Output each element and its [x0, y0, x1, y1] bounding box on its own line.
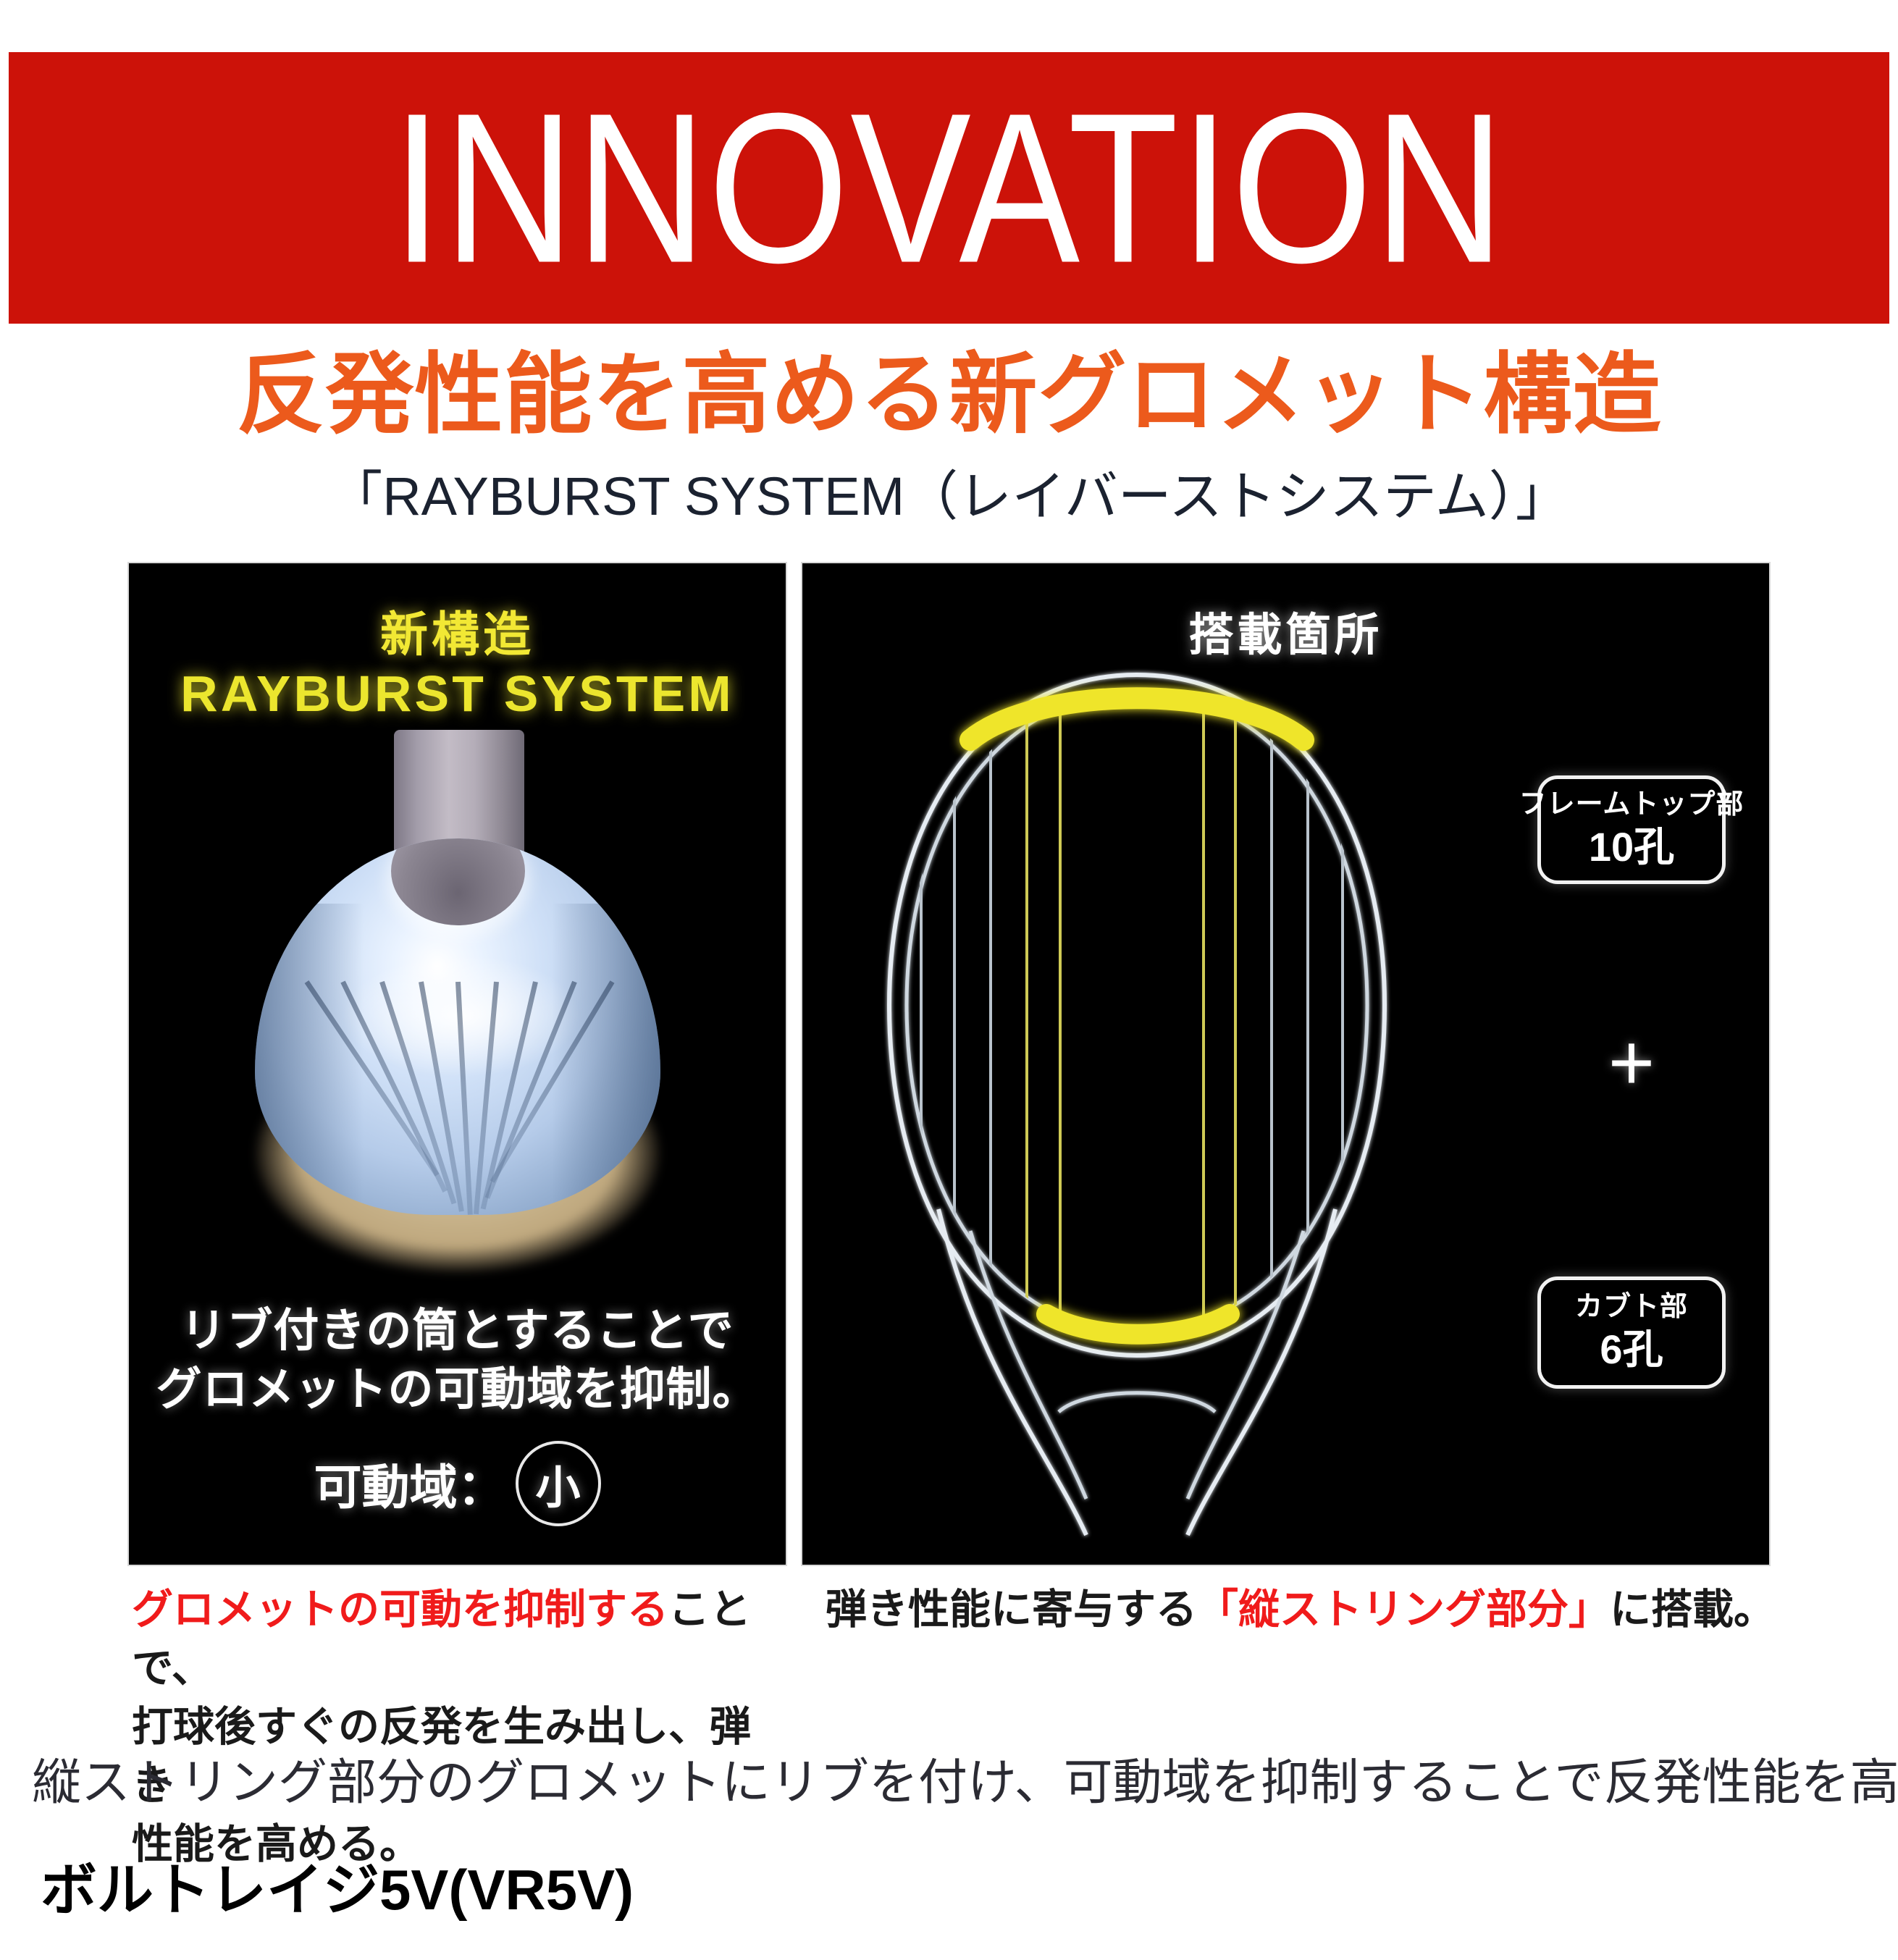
badge-kabuto-label: カブト部: [1575, 1292, 1688, 1324]
badge-frame-top-value: 10孔: [1589, 824, 1674, 870]
movement-range-row: 可動域： 小: [129, 1441, 786, 1526]
right-caption-suffix: に搭載。: [1610, 1586, 1775, 1633]
grommet-3d-illustration: [226, 730, 689, 1295]
badge-frame-top: フレームトップ部 10孔: [1537, 775, 1726, 884]
description-line-2: グロメットの可動域を抑制。: [129, 1360, 786, 1419]
badge-kabuto: カブト部 6孔: [1537, 1276, 1726, 1389]
left-panel-caption: グロメットの可動を抑制することで、 打球後すぐの反発を生み出し、弾き 性能を高め…: [132, 1581, 784, 1874]
page-title: 反発性能を高める新グロメット構造: [0, 346, 1898, 443]
racket-svg: [869, 659, 1405, 1549]
innovation-title: INNOVATION: [392, 81, 1506, 295]
kabuto-grommet-arc: [1046, 1314, 1230, 1334]
racket-vertical-strings: [921, 688, 1343, 1336]
right-caption-highlight: 「縦ストリング部分」: [1197, 1586, 1610, 1633]
racket-diagram: [869, 659, 1405, 1549]
dome-shade-left: [255, 904, 364, 1208]
movement-range-value-badge: 小: [516, 1441, 601, 1526]
page-subtitle: 「RAYBURST SYSTEM（レイバーストシステム）」: [0, 465, 1898, 529]
grommet-highlight-arcs: [970, 698, 1303, 1334]
left-caption-highlight: グロメットの可動を抑制する: [132, 1586, 668, 1633]
grommet-bore-hole: [391, 838, 525, 925]
movement-range-label: 可動域：: [314, 1449, 505, 1518]
rayburst-system-logo-text: RAYBURST SYSTEM: [129, 665, 786, 723]
product-name: ボルトレイジ5V(VR5V): [41, 1855, 634, 1926]
summary-text: 縦ストリング部分のグロメットにリブを付け、可動域を抑制することで反発性能を高めま…: [32, 1751, 1871, 1814]
innovation-header-bar: INNOVATION: [9, 52, 1889, 324]
new-structure-description: リブ付きの筒とすることで グロメットの可動域を抑制。: [129, 1302, 786, 1418]
racket-frame-outline: [889, 675, 1385, 1535]
badge-kabuto-value: 6孔: [1600, 1326, 1663, 1373]
grommet-ribbed-dome: [255, 838, 660, 1215]
mount-location-panel: 搭載箇所: [802, 563, 1769, 1565]
frame-top-grommet-arc: [970, 698, 1303, 740]
description-line-1: リブ付きの筒とすることで: [129, 1302, 786, 1360]
new-structure-heading: 新構造: [129, 596, 786, 665]
right-caption-prefix: 弾き性能に寄与する: [826, 1586, 1197, 1633]
right-panel-caption: 弾き性能に寄与する「縦ストリング部分」に搭載。: [826, 1581, 1825, 1639]
plus-icon: +: [1537, 1023, 1726, 1103]
new-structure-panel: 新構造 RAYBURST SYSTEM リブ付きの筒とすることで グロメットの可…: [129, 563, 786, 1565]
mount-location-heading: 搭載箇所: [802, 598, 1769, 663]
badge-frame-top-label: フレームトップ部: [1519, 789, 1744, 821]
